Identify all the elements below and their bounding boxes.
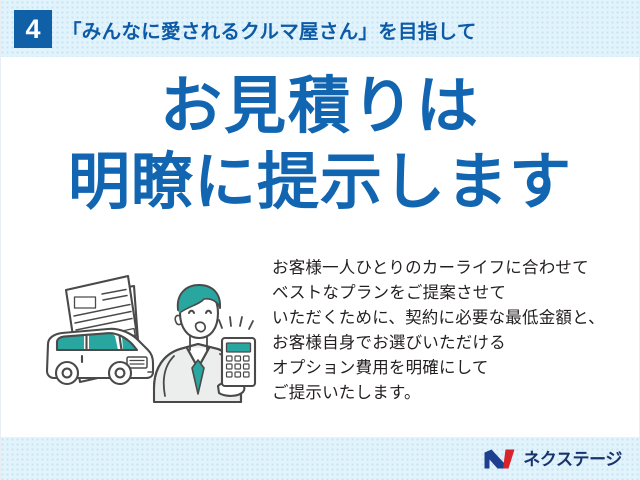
- sparkle-icon: [219, 317, 253, 329]
- body-line: ベストなプランをご提案させて: [272, 281, 634, 306]
- body-line: お客様自身でお選びいただける: [272, 331, 634, 356]
- body-line: お客様一人ひとりのカーライフに合わせて: [272, 256, 634, 281]
- illustration-salesman-quotation: [22, 256, 272, 428]
- headline-line-2: 明瞭に提示します: [0, 152, 640, 214]
- step-number-badge: 4: [14, 10, 52, 48]
- body-line: いただくために、契約に必要な最低金額と、: [272, 306, 634, 331]
- promo-banner: 4 「みんなに愛されるクルマ屋さん」を目指して お見積りは 明瞭に提示します お…: [0, 0, 640, 480]
- calculator: [219, 317, 255, 386]
- brand-logo: ネクステージ: [483, 447, 622, 471]
- body-line: オプション費用を明確にして: [272, 356, 634, 381]
- nextage-n-logo-icon: [483, 448, 516, 470]
- body-copy: お客様一人ひとりのカーライフに合わせて ベストなプランをご提案させて いただくた…: [272, 256, 634, 406]
- body-line: ご提示いたします。: [272, 381, 634, 406]
- headline-line-1: お見積りは: [0, 76, 640, 138]
- headline: お見積りは 明瞭に提示します: [0, 76, 640, 214]
- brand-name: ネクステージ: [523, 451, 622, 468]
- header-title: 「みんなに愛されるクルマ屋さん」を目指して: [62, 13, 477, 45]
